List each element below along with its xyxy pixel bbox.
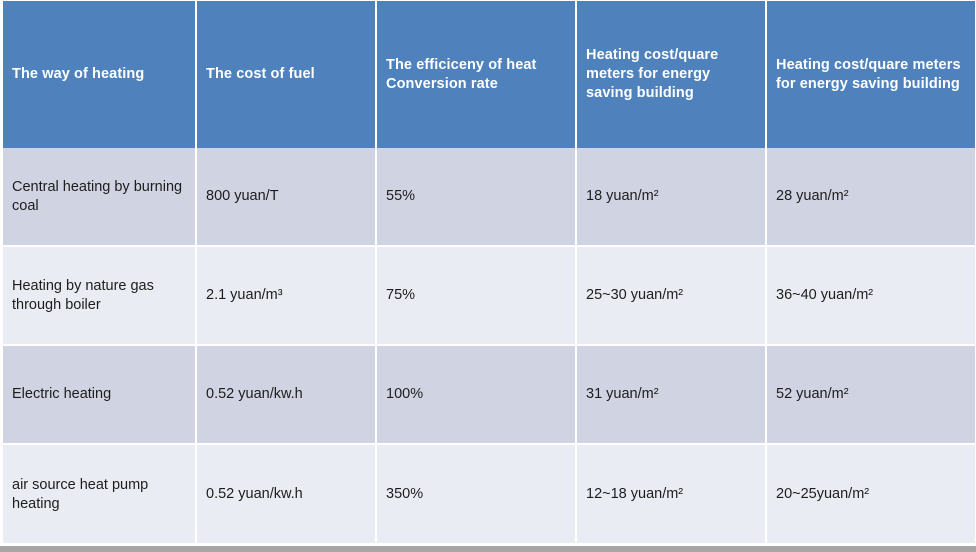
cell-cost-saving-building: 28 yuan/m² [767, 148, 975, 247]
table-row: Central heating by burning coal 800 yuan… [3, 148, 975, 247]
bottom-edge-strip [0, 546, 976, 552]
column-header-cost-saving-building: Heating cost/quare meters for energy sav… [767, 1, 975, 148]
column-header-efficiency: The efficiceny of heat Conversion rate [377, 1, 577, 148]
heating-comparison-table: The way of heating The cost of fuel The … [3, 1, 975, 544]
cell-cost-saving-building: 52 yuan/m² [767, 346, 975, 445]
heating-comparison-table-container: The way of heating The cost of fuel The … [0, 1, 976, 552]
column-header-way-of-heating: The way of heating [3, 1, 197, 148]
cell-cost-normal-building: 12~18 yuan/m² [577, 445, 767, 544]
table-header: The way of heating The cost of fuel The … [3, 1, 975, 148]
cell-efficiency: 350% [377, 445, 577, 544]
cell-cost-of-fuel: 0.52 yuan/kw.h [197, 346, 377, 445]
cell-cost-of-fuel: 800 yuan/T [197, 148, 377, 247]
cell-cost-saving-building: 20~25yuan/m² [767, 445, 975, 544]
cell-efficiency: 75% [377, 247, 577, 346]
cell-way-of-heating: Central heating by burning coal [3, 148, 197, 247]
table-row: Electric heating 0.52 yuan/kw.h 100% 31 … [3, 346, 975, 445]
column-header-cost-of-fuel: The cost of fuel [197, 1, 377, 148]
cell-way-of-heating: Electric heating [3, 346, 197, 445]
cell-efficiency: 55% [377, 148, 577, 247]
cell-cost-normal-building: 31 yuan/m² [577, 346, 767, 445]
cell-cost-normal-building: 18 yuan/m² [577, 148, 767, 247]
cell-way-of-heating: Heating by nature gas through boiler [3, 247, 197, 346]
cell-efficiency: 100% [377, 346, 577, 445]
cell-cost-of-fuel: 2.1 yuan/m³ [197, 247, 377, 346]
table-body: Central heating by burning coal 800 yuan… [3, 148, 975, 544]
cell-cost-normal-building: 25~30 yuan/m² [577, 247, 767, 346]
column-header-cost-normal-building: Heating cost/quare meters for energy sav… [577, 1, 767, 148]
table-row: Heating by nature gas through boiler 2.1… [3, 247, 975, 346]
table-row: air source heat pump heating 0.52 yuan/k… [3, 445, 975, 544]
cell-way-of-heating: air source heat pump heating [3, 445, 197, 544]
cell-cost-of-fuel: 0.52 yuan/kw.h [197, 445, 377, 544]
table-header-row: The way of heating The cost of fuel The … [3, 1, 975, 148]
cell-cost-saving-building: 36~40 yuan/m² [767, 247, 975, 346]
